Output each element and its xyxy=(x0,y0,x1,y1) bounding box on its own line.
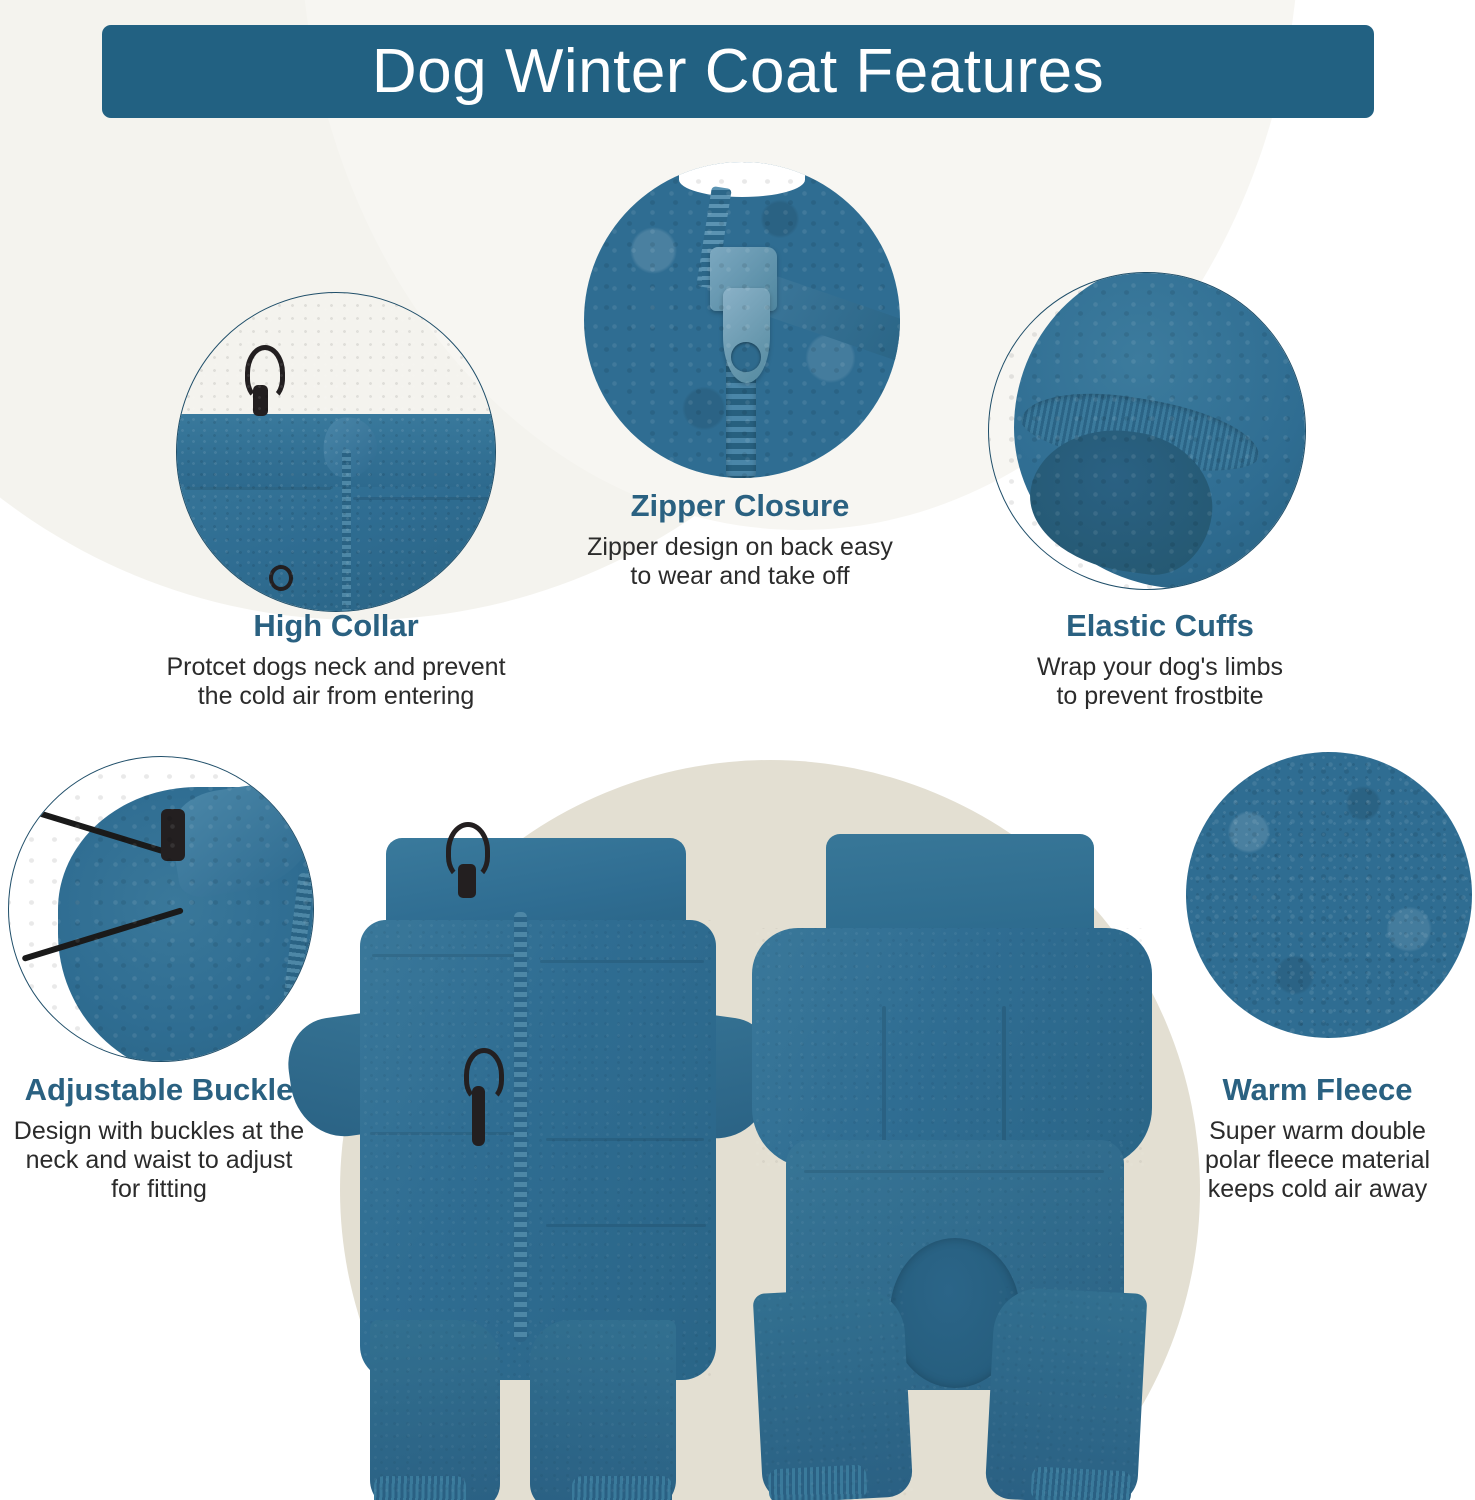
cord-lock-icon xyxy=(458,864,476,898)
feature-title-adjustable-buckle: Adjustable Buckle xyxy=(0,1072,318,1109)
feature-title-high-collar: High Collar xyxy=(100,608,572,645)
zipper-pull-tab xyxy=(472,1086,485,1146)
product-photo-back-view xyxy=(740,820,1160,1500)
feature-image-zipper-closure xyxy=(584,162,900,478)
caption-high-collar: High Collar Protcet dogs neck and preven… xyxy=(100,608,572,711)
feature-description-warm-fleece: Super warm double polar fleece material … xyxy=(1160,1117,1475,1204)
feature-title-warm-fleece: Warm Fleece xyxy=(1160,1072,1475,1109)
feature-image-adjustable-buckle xyxy=(8,756,314,1062)
feature-description-adjustable-buckle: Design with buckles at the neck and wais… xyxy=(0,1117,318,1204)
feature-description-zipper-closure: Zipper design on back easy to wear and t… xyxy=(540,533,940,591)
page-title: Dog Winter Coat Features xyxy=(372,41,1104,103)
feature-description-high-collar: Protcet dogs neck and prevent the cold a… xyxy=(100,653,572,711)
feature-title-zipper-closure: Zipper Closure xyxy=(540,488,940,525)
zipper-illustration xyxy=(584,162,900,478)
feature-image-high-collar xyxy=(176,292,496,612)
title-banner: Dog Winter Coat Features xyxy=(102,25,1374,118)
elastic-cuff-illustration xyxy=(989,273,1305,589)
caption-warm-fleece: Warm Fleece Super warm double polar flee… xyxy=(1160,1072,1475,1204)
caption-elastic-cuffs: Elastic Cuffs Wrap your dog's limbs to p… xyxy=(960,608,1360,711)
feature-description-elastic-cuffs: Wrap your dog's limbs to prevent frostbi… xyxy=(960,653,1360,711)
caption-adjustable-buckle: Adjustable Buckle Design with buckles at… xyxy=(0,1072,318,1204)
high-collar-illustration xyxy=(177,293,495,611)
adjustable-buckle-illustration xyxy=(9,757,313,1061)
infographic-page: Dog Winter Coat Features High Collar Pro… xyxy=(0,0,1475,1500)
caption-zipper-closure: Zipper Closure Zipper design on back eas… xyxy=(540,488,940,591)
product-photo-front-view xyxy=(318,820,738,1500)
feature-image-warm-fleece xyxy=(1186,752,1472,1038)
feature-image-elastic-cuffs xyxy=(988,272,1306,590)
feature-title-elastic-cuffs: Elastic Cuffs xyxy=(960,608,1360,645)
